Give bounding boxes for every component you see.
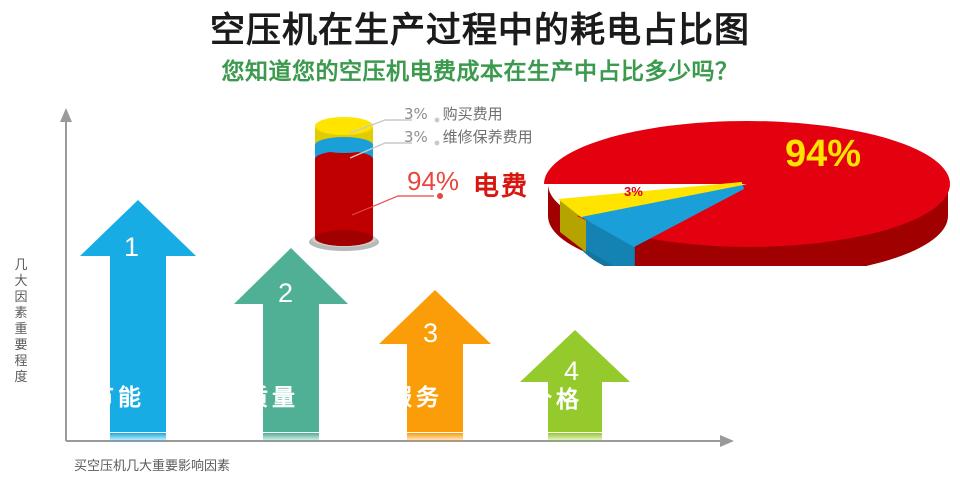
callout-purchase-label: 购买费用 [443,105,503,123]
callout-maintenance-pct: 3% [404,128,428,146]
callout-maintenance-label: 维修保养费用 [443,128,533,146]
callout-maintenance-cost: 3% 维修保养费用 [404,126,533,147]
pie-label-purchase: 3% [592,170,608,182]
pie-label-electricity: 94% [785,133,861,176]
callout-purchase-pct: 3% [404,105,428,123]
callout-purchase-cost: 3% 购买费用 [404,103,503,124]
pie-chart-3d [542,106,952,266]
callout-electricity-pct: 94% [407,166,459,197]
callout-electricity-label: 电费 [473,166,529,203]
infographic-canvas: 空压机在生产过程中的耗电占比图 您知道您的空压机电费成本在生产中占比多少吗？ 几… [0,0,960,483]
pie-label-maintenance: 3% [624,184,643,199]
